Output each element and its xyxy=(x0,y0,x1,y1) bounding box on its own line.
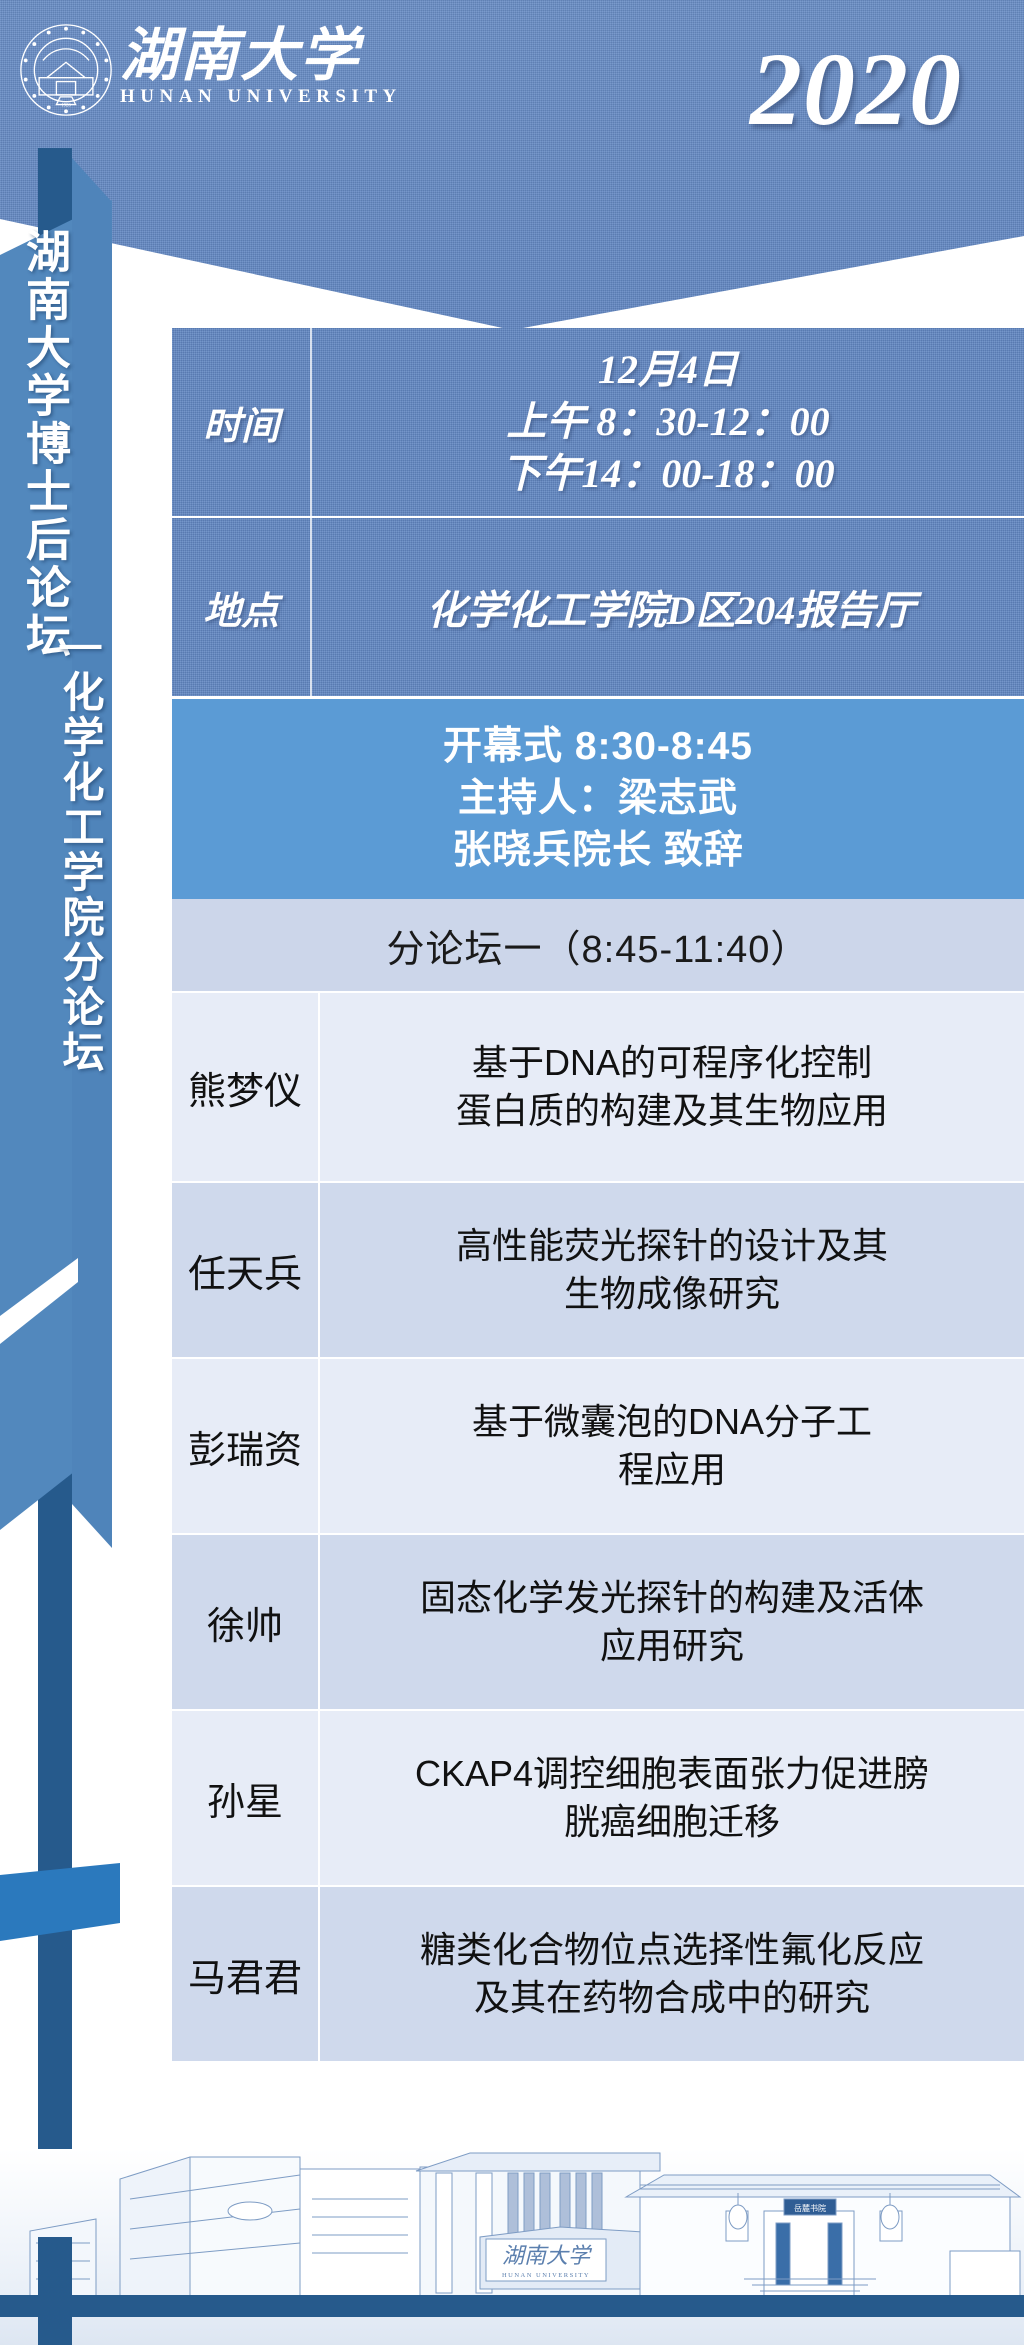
speaker-name: 马君君 xyxy=(172,1887,320,2061)
talk-topic-line: 应用研究 xyxy=(600,1622,744,1670)
talk-topic-line: 糖类化合物位点选择性氟化反应 xyxy=(420,1926,924,1974)
footer-campus-illustration: 湖南大学 HUNAN UNIVERSITY 岳麓书院 xyxy=(0,2149,1024,2345)
talk-topic: 糖类化合物位点选择性氟化反应 及其在药物合成中的研究 xyxy=(320,1887,1024,2061)
gate-plaque-text: 岳麓书院 xyxy=(794,2203,826,2213)
talk-topic: 高性能荧光探针的设计及其 生物成像研究 xyxy=(320,1183,1024,1357)
table-row: 孙星 CKAP4调控细胞表面张力促进膀 胱癌细胞迁移 xyxy=(172,1711,1024,1887)
table-row: 任天兵 高性能荧光探针的设计及其 生物成像研究 xyxy=(172,1183,1024,1359)
talk-topic: 固态化学发光探针的构建及活体 应用研究 xyxy=(320,1535,1024,1709)
table-row: 马君君 糖类化合物位点选择性氟化反应 及其在药物合成中的研究 xyxy=(172,1887,1024,2063)
svg-text:1926: 1926 xyxy=(61,103,71,108)
opening-line-1: 开幕式 8:30-8:45 xyxy=(443,721,753,773)
place-row: 地点 化学化工学院D区204报告厅 xyxy=(172,518,1024,696)
schedule-table: 时间 12月4日 上午 8：30-12：00 下午14：00-18：00 地点 … xyxy=(172,328,1024,2063)
opening-line-2: 主持人：梁志武 xyxy=(458,773,738,825)
footer-baseline-bar xyxy=(0,2295,1024,2317)
subforum-header-row: 分论坛一（8:45-11:40） xyxy=(172,899,1024,993)
talk-topic-line: CKAP4调控细胞表面张力促进膀 xyxy=(415,1750,929,1798)
speaker-name: 熊梦仪 xyxy=(172,993,320,1181)
talk-topic-line: 基于微囊泡的DNA分子工 xyxy=(472,1398,872,1446)
talk-topic-line: 胱癌细胞迁移 xyxy=(564,1798,780,1846)
table-row: 熊梦仪 基于DNA的可程序化控制 蛋白质的构建及其生物应用 xyxy=(172,993,1024,1183)
talk-topic-line: 生物成像研究 xyxy=(564,1270,780,1318)
subforum-header-label: 分论坛一（8:45-11:40） xyxy=(387,918,810,973)
place-value: 化学化工学院D区204报告厅 xyxy=(312,518,1024,696)
time-morning: 上午 8：30-12：00 xyxy=(506,396,829,448)
speaker-name: 徐帅 xyxy=(172,1535,320,1709)
opening-ceremony-block: 开幕式 8:30-8:45 主持人：梁志武 张晓兵院长 致辞 xyxy=(172,696,1024,899)
time-date: 12月4日 xyxy=(598,344,738,396)
university-name-cn: 湖南大学 xyxy=(120,24,420,88)
talk-topic-line: 基于DNA的可程序化控制 xyxy=(472,1039,872,1087)
talk-topic-line: 固态化学发光探针的构建及活体 xyxy=(420,1574,924,1622)
speaker-name: 孙星 xyxy=(172,1711,320,1885)
talk-topic-line: 及其在药物合成中的研究 xyxy=(474,1974,870,2022)
campus-stone-name-cn: 湖南大学 xyxy=(502,2243,593,2268)
time-row: 时间 12月4日 上午 8：30-12：00 下午14：00-18：00 xyxy=(172,328,1024,518)
speaker-name: 任天兵 xyxy=(172,1183,320,1357)
talk-topic-line: 高性能荧光探针的设计及其 xyxy=(456,1222,888,1270)
hunan-university-emblem-icon: 1926 xyxy=(18,22,114,118)
sidebar-title-primary: 湖南大学博士后论坛 xyxy=(12,228,77,660)
talk-topic: 基于DNA的可程序化控制 蛋白质的构建及其生物应用 xyxy=(320,993,1024,1181)
poster-root: 1926 湖南大学 HUNAN UNIVERSITY 2020 湖南大学博士后论… xyxy=(0,0,1024,2345)
talk-topic: CKAP4调控细胞表面张力促进膀 胱癌细胞迁移 xyxy=(320,1711,1024,1885)
talk-topic: 基于微囊泡的DNA分子工 程应用 xyxy=(320,1359,1024,1533)
talk-topic-line: 蛋白质的构建及其生物应用 xyxy=(456,1087,888,1135)
time-value: 12月4日 上午 8：30-12：00 下午14：00-18：00 xyxy=(312,328,1024,516)
university-name-en: HUNAN UNIVERSITY xyxy=(120,86,420,108)
table-row: 彭瑞资 基于微囊泡的DNA分子工 程应用 xyxy=(172,1359,1024,1535)
university-wordmark: 湖南大学 HUNAN UNIVERSITY xyxy=(120,24,420,116)
footer-vertical-post xyxy=(38,2237,72,2345)
place-label: 地点 xyxy=(172,518,312,696)
talk-topic-line: 程应用 xyxy=(618,1446,726,1494)
campus-stone-name-en: HUNAN UNIVERSITY xyxy=(502,2272,590,2279)
year-heading: 2020 xyxy=(750,38,962,142)
opening-line-3: 张晓兵院长 致辞 xyxy=(452,825,744,877)
campus-skyline-icon: 湖南大学 HUNAN UNIVERSITY 岳麓书院 xyxy=(0,2139,1024,2299)
sidebar-title-secondary: —化学化工学院分论坛 xyxy=(50,620,111,1075)
time-label: 时间 xyxy=(172,328,312,516)
time-afternoon: 下午14：00-18：00 xyxy=(501,448,834,500)
speaker-name: 彭瑞资 xyxy=(172,1359,320,1533)
table-row: 徐帅 固态化学发光探针的构建及活体 应用研究 xyxy=(172,1535,1024,1711)
